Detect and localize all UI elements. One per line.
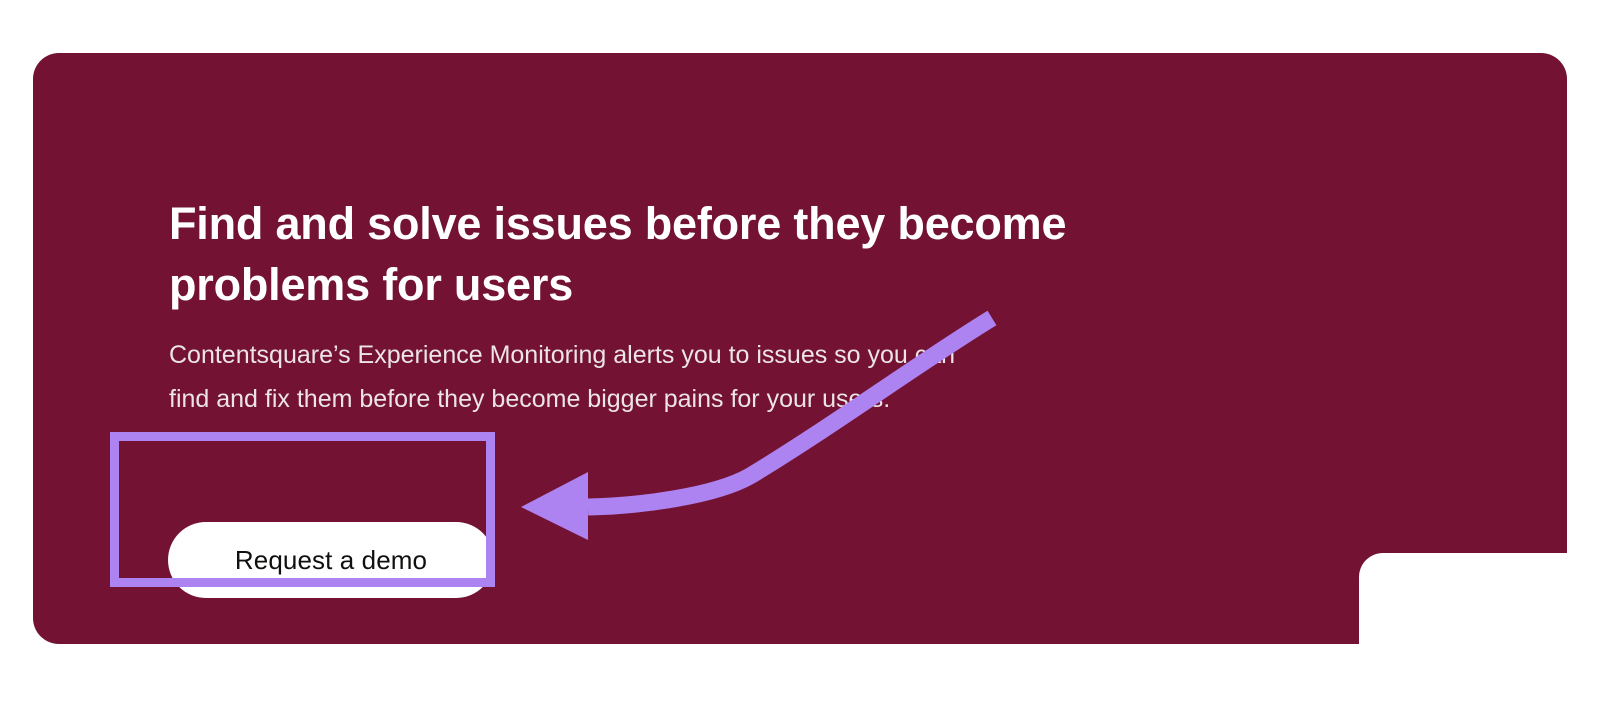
annotation-highlight-box [110, 432, 495, 587]
card-description: Contentsquare’s Experience Monitoring al… [169, 333, 959, 421]
overlay-panel [1359, 553, 1600, 645]
page-canvas: Find and solve issues before they become… [0, 0, 1600, 718]
card-content: Find and solve issues before they become… [169, 193, 1289, 421]
page-title: Find and solve issues before they become… [169, 193, 1259, 315]
